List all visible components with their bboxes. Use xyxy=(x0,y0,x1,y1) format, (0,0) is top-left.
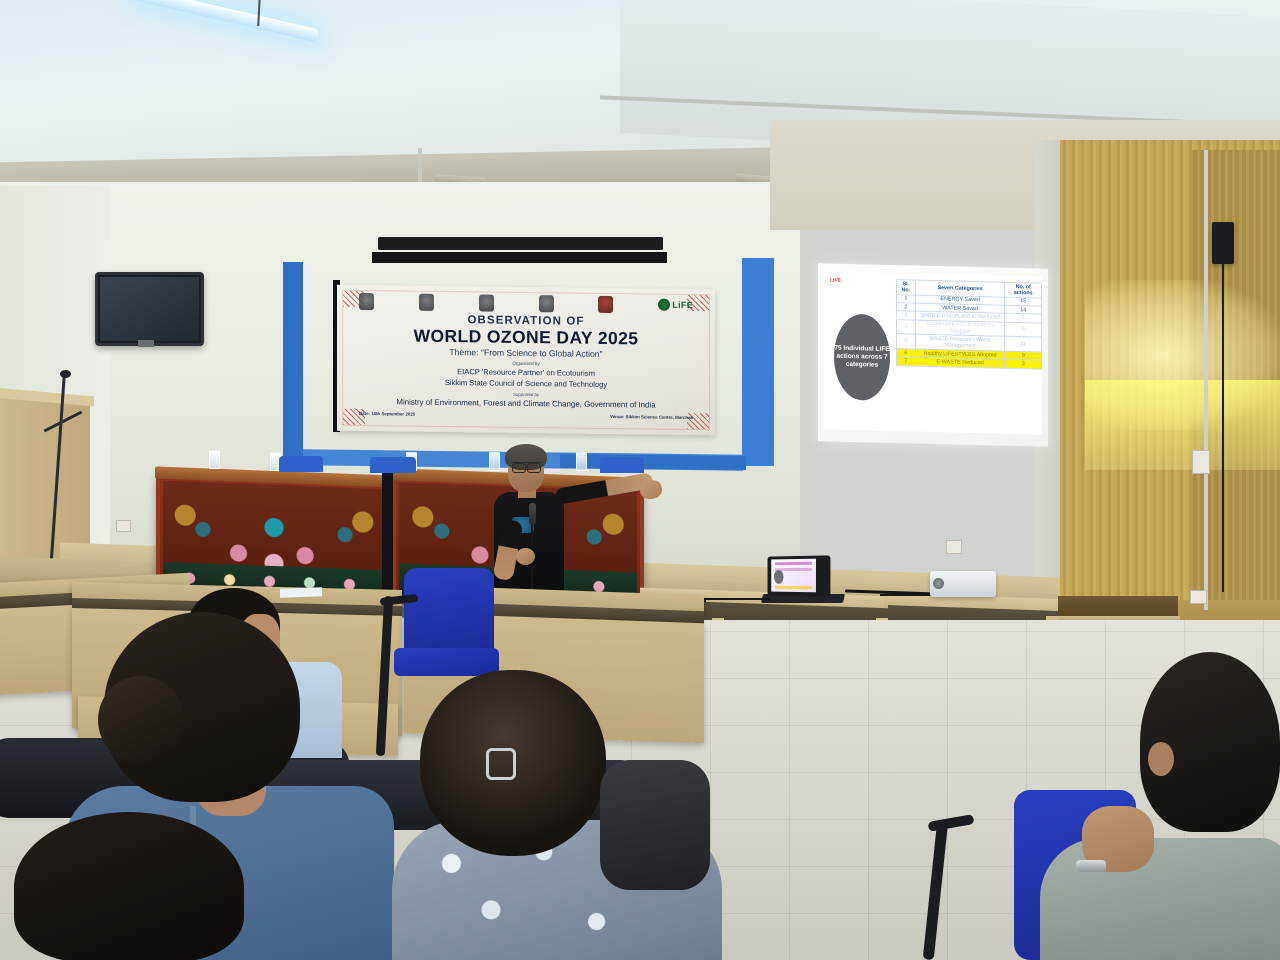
row-actions: 6 xyxy=(1005,322,1042,337)
stage-step-riser-1 xyxy=(1058,596,1178,618)
sikkim-state-logo xyxy=(479,294,494,311)
slide-life-logo: LiFE xyxy=(830,277,841,283)
microphone-head-icon xyxy=(60,370,71,378)
wall-socket-back xyxy=(946,540,962,554)
projection-screen-case-2 xyxy=(372,252,667,263)
row-actions: 3 xyxy=(1005,360,1042,369)
slide-col-sl-no: Sl. No. xyxy=(897,280,916,295)
photo-scene: LiFE OBSERVATION OF WORLD OZONE DAY 2025… xyxy=(0,0,1280,960)
projection-screen: LiFE 75 Individual LIFE actions across 7… xyxy=(818,263,1048,447)
wall-socket-lower xyxy=(1190,590,1207,604)
audience-hair-bun-knot xyxy=(98,676,184,764)
blue-wall-accent-left xyxy=(283,262,303,474)
chair-back-behind-table-3 xyxy=(600,457,644,473)
laptop-slide-bar-3 xyxy=(775,586,812,589)
audience-grey-green-shirt xyxy=(1040,838,1280,960)
slide-col-actions: No. of actions xyxy=(1005,282,1042,297)
row-category: E-WASTE Reduced xyxy=(915,357,1005,368)
row-actions: 11 xyxy=(1005,337,1042,352)
laptop-slide-oval xyxy=(774,570,783,584)
water-glass-4 xyxy=(489,452,500,471)
handheld-microphone-icon xyxy=(529,503,536,525)
tv-wall-mount xyxy=(138,340,154,347)
projector xyxy=(930,571,996,597)
ozone-cell-logo xyxy=(598,295,613,312)
wall-light-reflection-2 xyxy=(1085,380,1280,470)
water-glass-5 xyxy=(576,452,587,471)
wall-mounted-tv xyxy=(95,272,204,346)
mission-life-logo: LiFE xyxy=(658,299,693,311)
hanging-cord xyxy=(1222,262,1224,592)
wall-conduit-vertical xyxy=(1204,150,1208,610)
life-sun-icon xyxy=(658,299,670,311)
presenter-left-hand xyxy=(516,548,535,565)
slide-summary-text: 75 Individual LIFE actions across 7 cate… xyxy=(834,344,890,370)
event-banner: LiFE OBSERVATION OF WORLD OZONE DAY 2025… xyxy=(337,285,715,436)
wall-speaker xyxy=(1212,222,1234,264)
banner-date: Date: 16th September 2025 xyxy=(359,411,415,417)
empty-blue-chair-seat[interactable] xyxy=(394,648,499,676)
blue-wall-accent-right xyxy=(742,258,774,466)
laptop-display xyxy=(771,559,816,593)
laptop-slide-bar-1 xyxy=(775,562,812,565)
row-no: 7 xyxy=(897,357,916,366)
row-no: 5 xyxy=(897,334,916,349)
audience-bag-strap xyxy=(600,760,710,890)
paper-on-desk xyxy=(280,587,322,597)
slide-categories-table: Sl. No. Seven Categories No. of actions … xyxy=(896,279,1042,369)
projector-cable xyxy=(880,594,936,596)
laptop-screen[interactable] xyxy=(768,555,831,596)
audience-hair-bottom xyxy=(14,812,244,960)
presentation-slide: LiFE 75 Individual LIFE actions across 7… xyxy=(824,271,1042,434)
row-no: 4 xyxy=(897,319,916,334)
life-logo-text: LiFE xyxy=(672,300,693,310)
council-science-technology-logo xyxy=(539,295,554,312)
projector-lens-icon xyxy=(933,578,944,589)
india-state-emblem-logo xyxy=(359,292,374,309)
chair-back-behind-table-2 xyxy=(370,457,416,473)
audience-ear xyxy=(1148,742,1174,776)
chair-back-behind-table-1 xyxy=(279,456,323,472)
wall-socket-upper xyxy=(1192,450,1210,474)
presenter-eyeglasses-icon xyxy=(512,462,541,471)
blue-wall-accent-band-2 xyxy=(560,454,746,470)
audience-wristwatch xyxy=(1076,860,1106,872)
ceiling-conduit xyxy=(418,148,422,186)
wall-socket-podium xyxy=(116,520,131,532)
banner-venue: Venue: Sikkim Science Centre, Marchak xyxy=(610,414,693,420)
empty-blue-chair-seatback[interactable] xyxy=(404,568,494,660)
slide-summary-oval: 75 Individual LIFE actions across 7 cate… xyxy=(834,314,890,401)
audience-eyeglasses-temple-icon xyxy=(486,748,516,780)
water-glass-1 xyxy=(209,450,220,469)
laptop-cable xyxy=(700,598,770,600)
projection-screen-case xyxy=(378,237,663,250)
panel-divider xyxy=(382,470,393,598)
government-department-logo xyxy=(419,293,434,310)
tv-screen xyxy=(100,277,199,341)
